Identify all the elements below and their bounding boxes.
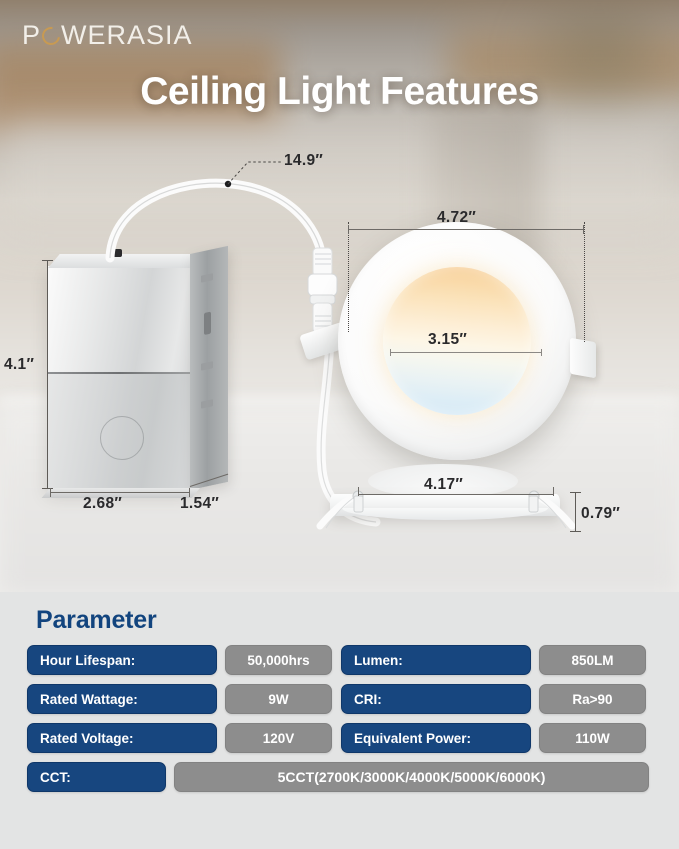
dimension-cap-profile-left	[358, 487, 359, 496]
infographic-page: P WERASIA Ceiling Light Features	[0, 0, 679, 849]
dimension-cap-box-height-top	[42, 260, 53, 261]
param-value-hour-lifespan: 50,000hrs	[225, 645, 332, 675]
dimension-cap-outer-right	[583, 225, 584, 234]
param-label-hour-lifespan: Hour Lifespan:	[27, 645, 217, 675]
dimension-cap-box-height-bottom	[42, 488, 53, 489]
junction-box-tab-top	[201, 273, 213, 283]
dimension-inner-diameter: 3.15″	[428, 331, 467, 349]
junction-box-seam	[48, 372, 190, 374]
param-label-rated-wattage: Rated Wattage:	[27, 684, 217, 714]
junction-box-cable-grommet	[108, 249, 122, 257]
param-value-equivalent-power: 110W	[539, 723, 646, 753]
logo-text-suffix: WERASIA	[61, 20, 193, 51]
dimension-line-box-height	[47, 260, 48, 488]
param-label-rated-voltage: Rated Voltage:	[27, 723, 217, 753]
junction-box-top-face	[48, 254, 202, 268]
dimension-box-depth: 1.54″	[180, 495, 219, 513]
hero-photo-section: P WERASIA Ceiling Light Features	[0, 0, 679, 592]
dimension-cap-profile-height-bottom	[570, 531, 581, 532]
parameter-section: Parameter Hour Lifespan: 50,000hrs Lumen…	[0, 592, 679, 849]
param-label-equivalent-power: Equivalent Power:	[341, 723, 531, 753]
dimension-extension-left	[348, 222, 349, 332]
junction-box-group	[0, 140, 340, 540]
dimension-line-inner-diameter	[390, 352, 542, 353]
dimension-cap-inner-right	[541, 349, 542, 356]
parameter-table: Hour Lifespan: 50,000hrs Lumen: 850LM Ra…	[27, 645, 652, 801]
logo-circle-icon	[38, 23, 63, 48]
parameter-heading: Parameter	[36, 606, 157, 635]
logo-text-prefix: P	[22, 20, 41, 51]
table-row: Hour Lifespan: 50,000hrs Lumen: 850LM	[27, 645, 652, 675]
dimension-line-box-width	[50, 492, 190, 493]
param-value-rated-voltage: 120V	[225, 723, 332, 753]
dimension-profile-width: 4.17″	[424, 476, 463, 494]
dimension-cap-inner-left	[390, 349, 391, 356]
dimension-line-outer-diameter	[348, 229, 584, 230]
param-value-cri: Ra>90	[539, 684, 646, 714]
param-value-rated-wattage: 9W	[225, 684, 332, 714]
table-row: Rated Voltage: 120V Equivalent Power: 11…	[27, 723, 652, 753]
dimension-box-height: 4.1″	[4, 356, 34, 374]
dimension-line-profile-height	[575, 492, 576, 532]
param-label-lumen: Lumen:	[341, 645, 531, 675]
table-row: Rated Wattage: 9W CRI: Ra>90	[27, 684, 652, 714]
param-label-cct: CCT:	[27, 762, 166, 792]
brand-logo: P WERASIA	[22, 20, 193, 51]
junction-box-side-face	[190, 246, 228, 490]
dimension-profile-height: 0.79″	[581, 505, 620, 523]
table-row-cct: CCT: 5CCT(2700K/3000K/4000K/5000K/6000K)	[27, 762, 652, 792]
dimension-cap-outer-left	[348, 225, 349, 234]
junction-box-vent-slot	[204, 312, 211, 335]
spring-clip-right	[570, 338, 596, 379]
dimension-extension-right	[584, 222, 585, 342]
param-value-lumen: 850LM	[539, 645, 646, 675]
dimension-cap-box-width-left	[50, 488, 51, 497]
param-label-cri: CRI:	[341, 684, 531, 714]
junction-box-tab-mid	[201, 361, 213, 371]
dimension-cable-length: 14.9″	[284, 152, 323, 170]
page-title: Ceiling Light Features	[0, 70, 679, 114]
junction-box	[48, 266, 190, 490]
junction-box-tab-low	[201, 399, 213, 409]
dimension-cap-profile-height-top	[570, 492, 581, 493]
dimension-line-profile-width	[358, 494, 554, 495]
junction-box-knockout	[100, 416, 144, 460]
dimension-cap-profile-right	[553, 487, 554, 496]
dimension-box-width: 2.68″	[83, 495, 122, 513]
param-value-cct: 5CCT(2700K/3000K/4000K/5000K/6000K)	[174, 762, 649, 792]
dimension-outer-diameter: 4.72″	[437, 209, 476, 227]
